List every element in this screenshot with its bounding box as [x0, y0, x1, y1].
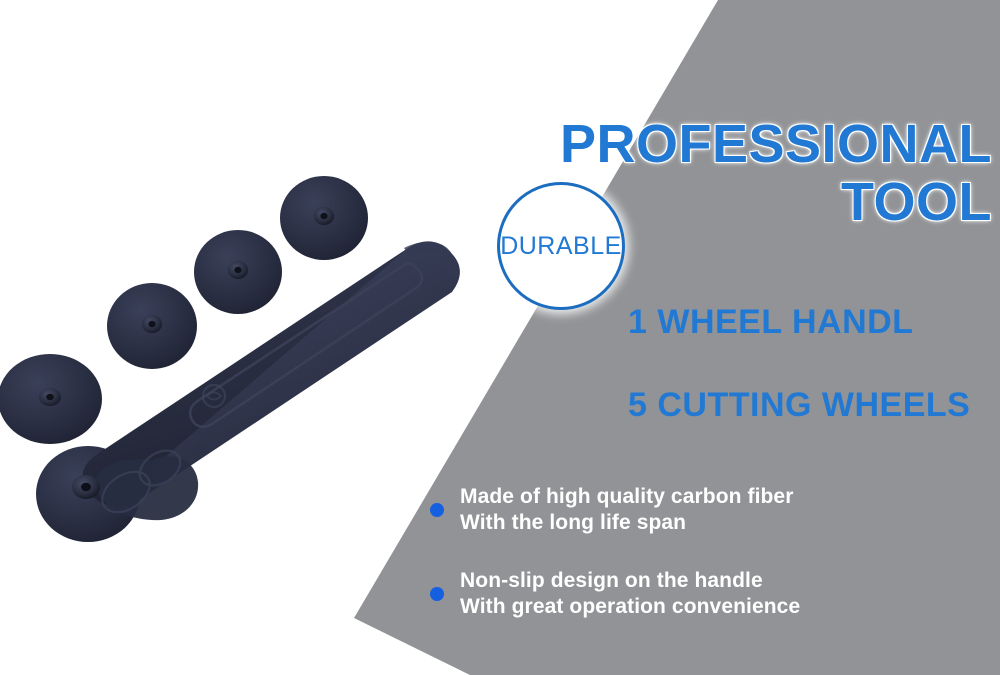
cutting-wheel [0, 354, 102, 444]
headline-line-1: PROFESSIONAL [372, 116, 992, 174]
bullet-dot-icon [430, 503, 444, 517]
feature-text: Made of high quality carbon fiber With t… [460, 484, 794, 537]
headline-line-2: TOOL [372, 174, 992, 232]
page-title: PROFESSIONAL TOOL [372, 116, 992, 232]
feature-line-2: With the long life span [460, 510, 794, 536]
product-photo [0, 0, 470, 675]
cutting-wheel [280, 176, 368, 260]
cutting-wheel [107, 283, 197, 369]
feature-text: Non-slip design on the handle With great… [460, 568, 800, 621]
spec-cutting-wheels: 5 CUTTING WHEELS [628, 386, 970, 425]
cutting-wheel-hub [72, 475, 100, 499]
product-banner: DURABLE PROFESSIONAL TOOL 1 WHEEL HANDL … [0, 0, 1000, 675]
feature-line-2: With great operation convenience [460, 594, 800, 620]
feature-item: Non-slip design on the handle With great… [430, 568, 800, 621]
feature-line-1: Made of high quality carbon fiber [460, 484, 794, 510]
durable-badge-label: DURABLE [500, 232, 622, 261]
bullet-dot-icon [430, 587, 444, 601]
spec-wheel-handle: 1 WHEEL HANDL [628, 303, 913, 342]
feature-item: Made of high quality carbon fiber With t… [430, 484, 794, 537]
feature-line-1: Non-slip design on the handle [460, 568, 800, 594]
cutting-wheel [194, 230, 282, 314]
